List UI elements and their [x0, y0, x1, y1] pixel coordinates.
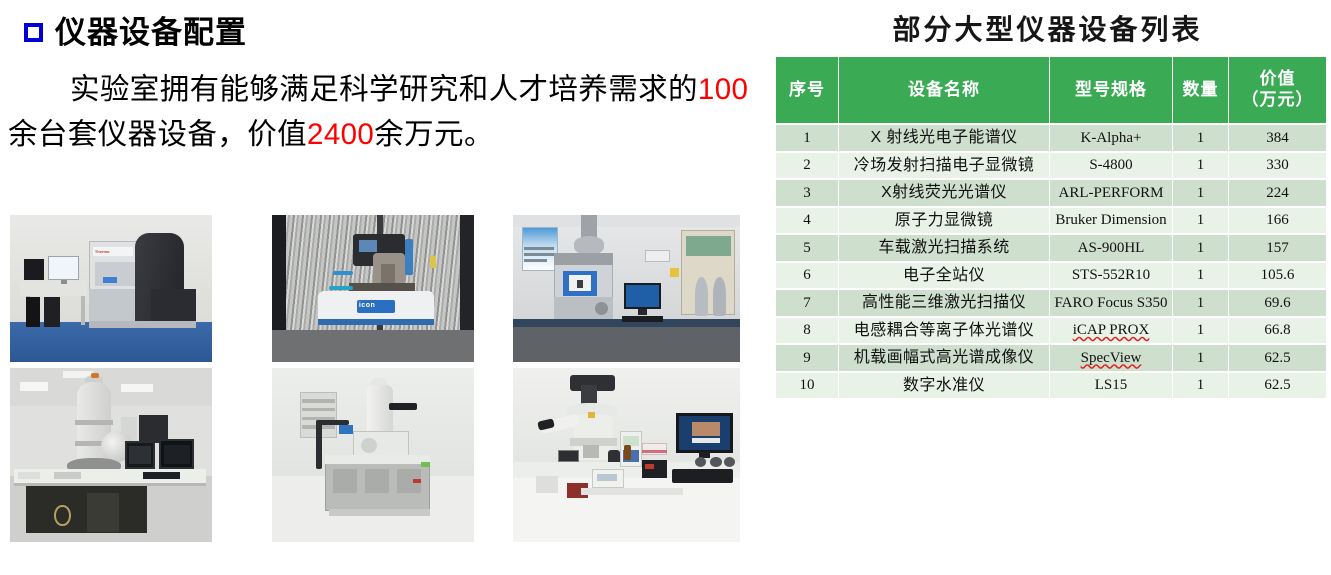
table-row: 3X射线荧光光谱仪ARL-PERFORM1224 [776, 180, 1326, 206]
table-row: 7高性能三维激光扫描仪FARO Focus S350169.6 [776, 290, 1326, 316]
photo-sem-fib-instrument [272, 368, 474, 542]
table-row: 4原子力显微镜Bruker Dimension1166 [776, 208, 1326, 234]
cell-index: 1 [776, 125, 838, 151]
body-paragraph: 实验室拥有能够满足科学研究和人才培养需求的100余台套仪器设备，价值2400余万… [8, 68, 756, 158]
equipment-table: 序号 设备名称 型号规格 数量 价值 （万元） 1X 射线光电子能谱仪K-Alp… [775, 55, 1327, 400]
cell-value: 384 [1229, 125, 1326, 151]
cell-equipment-name: 机载画幅式高光谱成像仪 [839, 345, 1049, 371]
photo-tem-column-cleanroom [10, 368, 212, 542]
table-row: 2冷场发射扫描电子显微镜S-48001330 [776, 153, 1326, 179]
column-header-qty: 数量 [1173, 57, 1228, 123]
cell-equipment-name: 数字水准仪 [839, 373, 1049, 399]
cell-model: SpecView [1050, 345, 1172, 371]
table-row: 10数字水准仪LS15162.5 [776, 373, 1326, 399]
cell-quantity: 1 [1173, 290, 1228, 316]
table-row: 5车载激光扫描系统AS-900HL1157 [776, 235, 1326, 261]
square-bullet-icon [24, 23, 43, 42]
cell-equipment-name: 电感耦合等离子体光谱仪 [839, 318, 1049, 344]
cell-quantity: 1 [1173, 318, 1228, 344]
cell-model: ARL-PERFORM [1050, 180, 1172, 206]
spellcheck-underline: SpecView [1081, 350, 1142, 366]
cell-quantity: 1 [1173, 263, 1228, 289]
cell-index: 6 [776, 263, 838, 289]
column-header-value-line1: 价值 [1260, 69, 1296, 88]
cell-index: 3 [776, 180, 838, 206]
table-header-row: 序号 设备名称 型号规格 数量 价值 （万元） [776, 57, 1326, 123]
cell-model: iCAP PROX [1050, 318, 1172, 344]
cell-model: AS-900HL [1050, 235, 1172, 261]
column-header-model: 型号规格 [1050, 57, 1172, 123]
spellcheck-underline: iCAP PROX [1073, 322, 1150, 338]
table-row: 1X 射线光电子能谱仪K-Alpha+1384 [776, 125, 1326, 151]
cell-quantity: 1 [1173, 373, 1228, 399]
column-header-name: 设备名称 [839, 57, 1049, 123]
cell-index: 4 [776, 208, 838, 234]
column-header-index: 序号 [776, 57, 838, 123]
paragraph-part-3: 余万元。 [374, 118, 494, 151]
cell-value: 166 [1229, 208, 1326, 234]
highlight-value-2400: 2400 [307, 118, 374, 151]
photo-xrf-lab-room [513, 215, 740, 362]
cell-quantity: 1 [1173, 180, 1228, 206]
cell-model: Bruker Dimension [1050, 208, 1172, 234]
cell-value: 69.6 [1229, 290, 1326, 316]
table-body: 1X 射线光电子能谱仪K-Alpha+13842冷场发射扫描电子显微镜S-480… [776, 125, 1326, 398]
cell-quantity: 1 [1173, 345, 1228, 371]
cell-index: 9 [776, 345, 838, 371]
table-row: 9机载画幅式高光谱成像仪SpecView162.5 [776, 345, 1326, 371]
table-row: 8电感耦合等离子体光谱仪iCAP PROX166.8 [776, 318, 1326, 344]
cell-equipment-name: 原子力显微镜 [839, 208, 1049, 234]
column-header-value: 价值 （万元） [1229, 57, 1326, 123]
cell-value: 62.5 [1229, 373, 1326, 399]
cell-model: K-Alpha+ [1050, 125, 1172, 151]
cell-value: 62.5 [1229, 345, 1326, 371]
cell-equipment-name: 冷场发射扫描电子显微镜 [839, 153, 1049, 179]
cell-index: 8 [776, 318, 838, 344]
paragraph-part-2: 余台套仪器设备，价值 [8, 118, 307, 151]
photo-confocal-microscope [513, 368, 740, 542]
cell-value: 224 [1229, 180, 1326, 206]
cell-value: 330 [1229, 153, 1326, 179]
paragraph-part-1: 实验室拥有能够满足科学研究和人才培养需求的 [70, 73, 698, 106]
cell-equipment-name: 电子全站仪 [839, 263, 1049, 289]
table-title: 部分大型仪器设备列表 [770, 8, 1325, 48]
page-title: 仪器设备配置 [55, 17, 247, 48]
highlight-count-100: 100 [698, 73, 748, 106]
photo-afm-bruker-icon: icon [272, 215, 474, 362]
cell-index: 7 [776, 290, 838, 316]
column-header-value-line2: （万元） [1242, 90, 1314, 109]
cell-model: STS-552R10 [1050, 263, 1172, 289]
cell-index: 5 [776, 235, 838, 261]
cell-equipment-name: 车载激光扫描系统 [839, 235, 1049, 261]
cell-equipment-name: X 射线光电子能谱仪 [839, 125, 1049, 151]
left-content-panel: 仪器设备配置 实验室拥有能够满足科学研究和人才培养需求的100余台套仪器设备，价… [0, 0, 768, 575]
section-heading: 仪器设备配置 [24, 17, 247, 48]
right-table-panel: 部分大型仪器设备列表 序号 设备名称 型号规格 数量 价值 （万元） 1X 射线… [770, 0, 1331, 575]
table-row: 6电子全站仪STS-552R101105.6 [776, 263, 1326, 289]
cell-model: S-4800 [1050, 153, 1172, 179]
cell-quantity: 1 [1173, 125, 1228, 151]
slide-canvas: 仪器设备配置 实验室拥有能够满足科学研究和人才培养需求的100余台套仪器设备，价… [0, 0, 1331, 575]
cell-quantity: 1 [1173, 208, 1228, 234]
cell-value: 66.8 [1229, 318, 1326, 344]
cell-equipment-name: 高性能三维激光扫描仪 [839, 290, 1049, 316]
cell-value: 105.6 [1229, 263, 1326, 289]
cell-quantity: 1 [1173, 153, 1228, 179]
cell-equipment-name: X射线荧光光谱仪 [839, 180, 1049, 206]
cell-model: FARO Focus S350 [1050, 290, 1172, 316]
photo-xps-instrument: Thermo [10, 215, 212, 362]
cell-model: LS15 [1050, 373, 1172, 399]
cell-value: 157 [1229, 235, 1326, 261]
cell-index: 10 [776, 373, 838, 399]
cell-quantity: 1 [1173, 235, 1228, 261]
table-header: 序号 设备名称 型号规格 数量 价值 （万元） [776, 57, 1326, 123]
cell-index: 2 [776, 153, 838, 179]
